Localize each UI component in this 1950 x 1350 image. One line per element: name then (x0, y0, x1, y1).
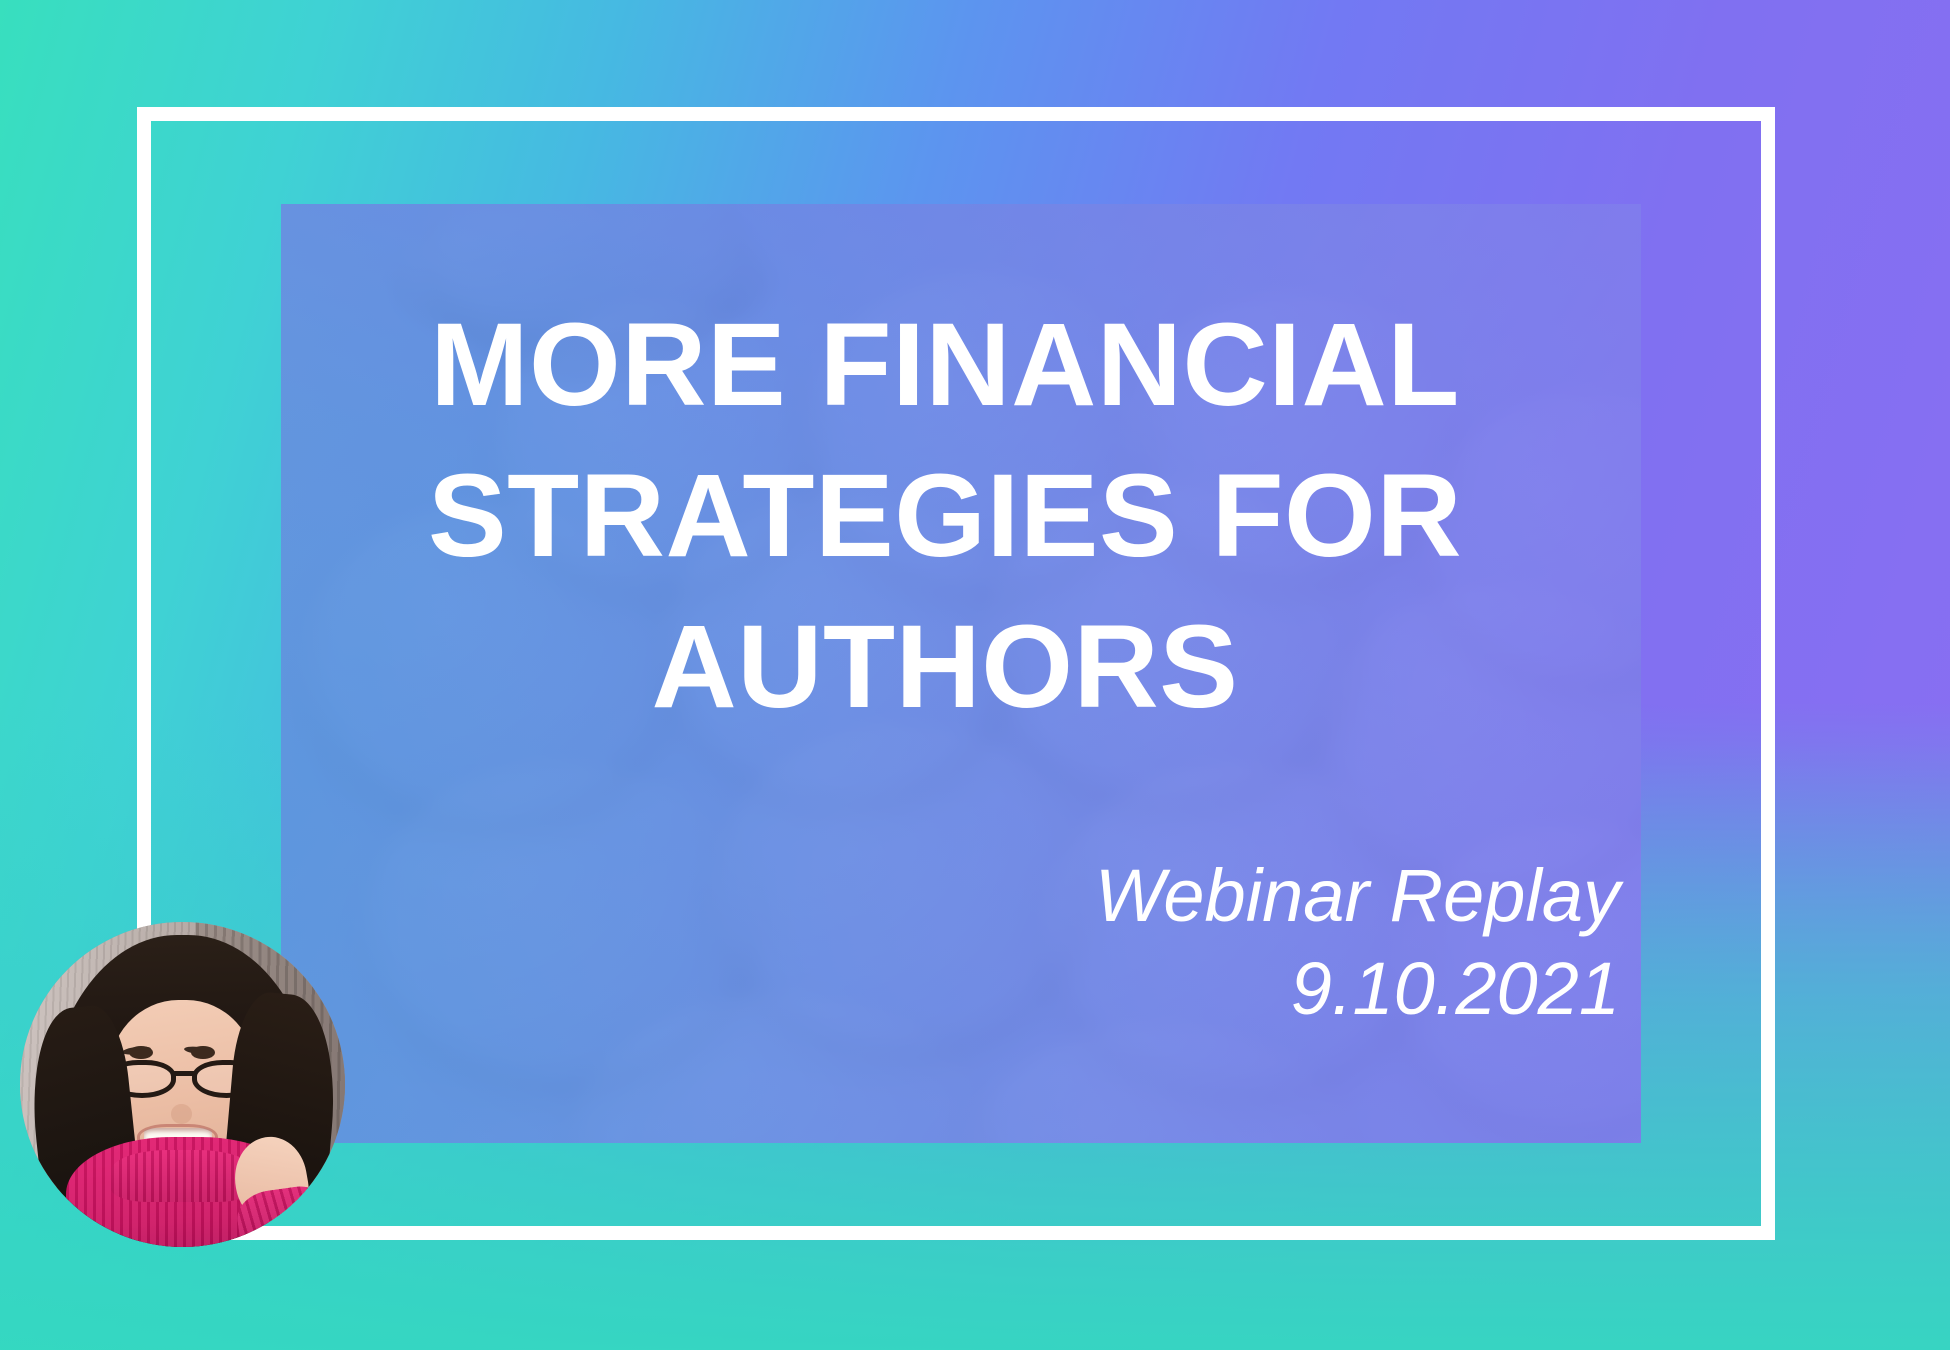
avatar-sweater-collar (111, 1150, 254, 1202)
title-line-2: STRATEGIES FOR (330, 441, 1560, 592)
avatar (20, 922, 345, 1247)
avatar-eye-right (191, 1046, 215, 1060)
page-title: MORE FINANCIAL STRATEGIES FOR AUTHORS (330, 290, 1560, 743)
title-line-1: MORE FINANCIAL (330, 290, 1560, 441)
subtitle-date: 9.10.2021 (1095, 943, 1620, 1036)
title-line-3: AUTHORS (330, 592, 1560, 743)
avatar-nose (171, 1104, 192, 1124)
avatar-eye-left (129, 1046, 153, 1060)
webinar-title-slide: MORE FINANCIAL STRATEGIES FOR AUTHORS We… (0, 0, 1950, 1350)
subtitle-label: Webinar Replay (1095, 850, 1620, 943)
subtitle-block: Webinar Replay 9.10.2021 (1095, 850, 1620, 1035)
